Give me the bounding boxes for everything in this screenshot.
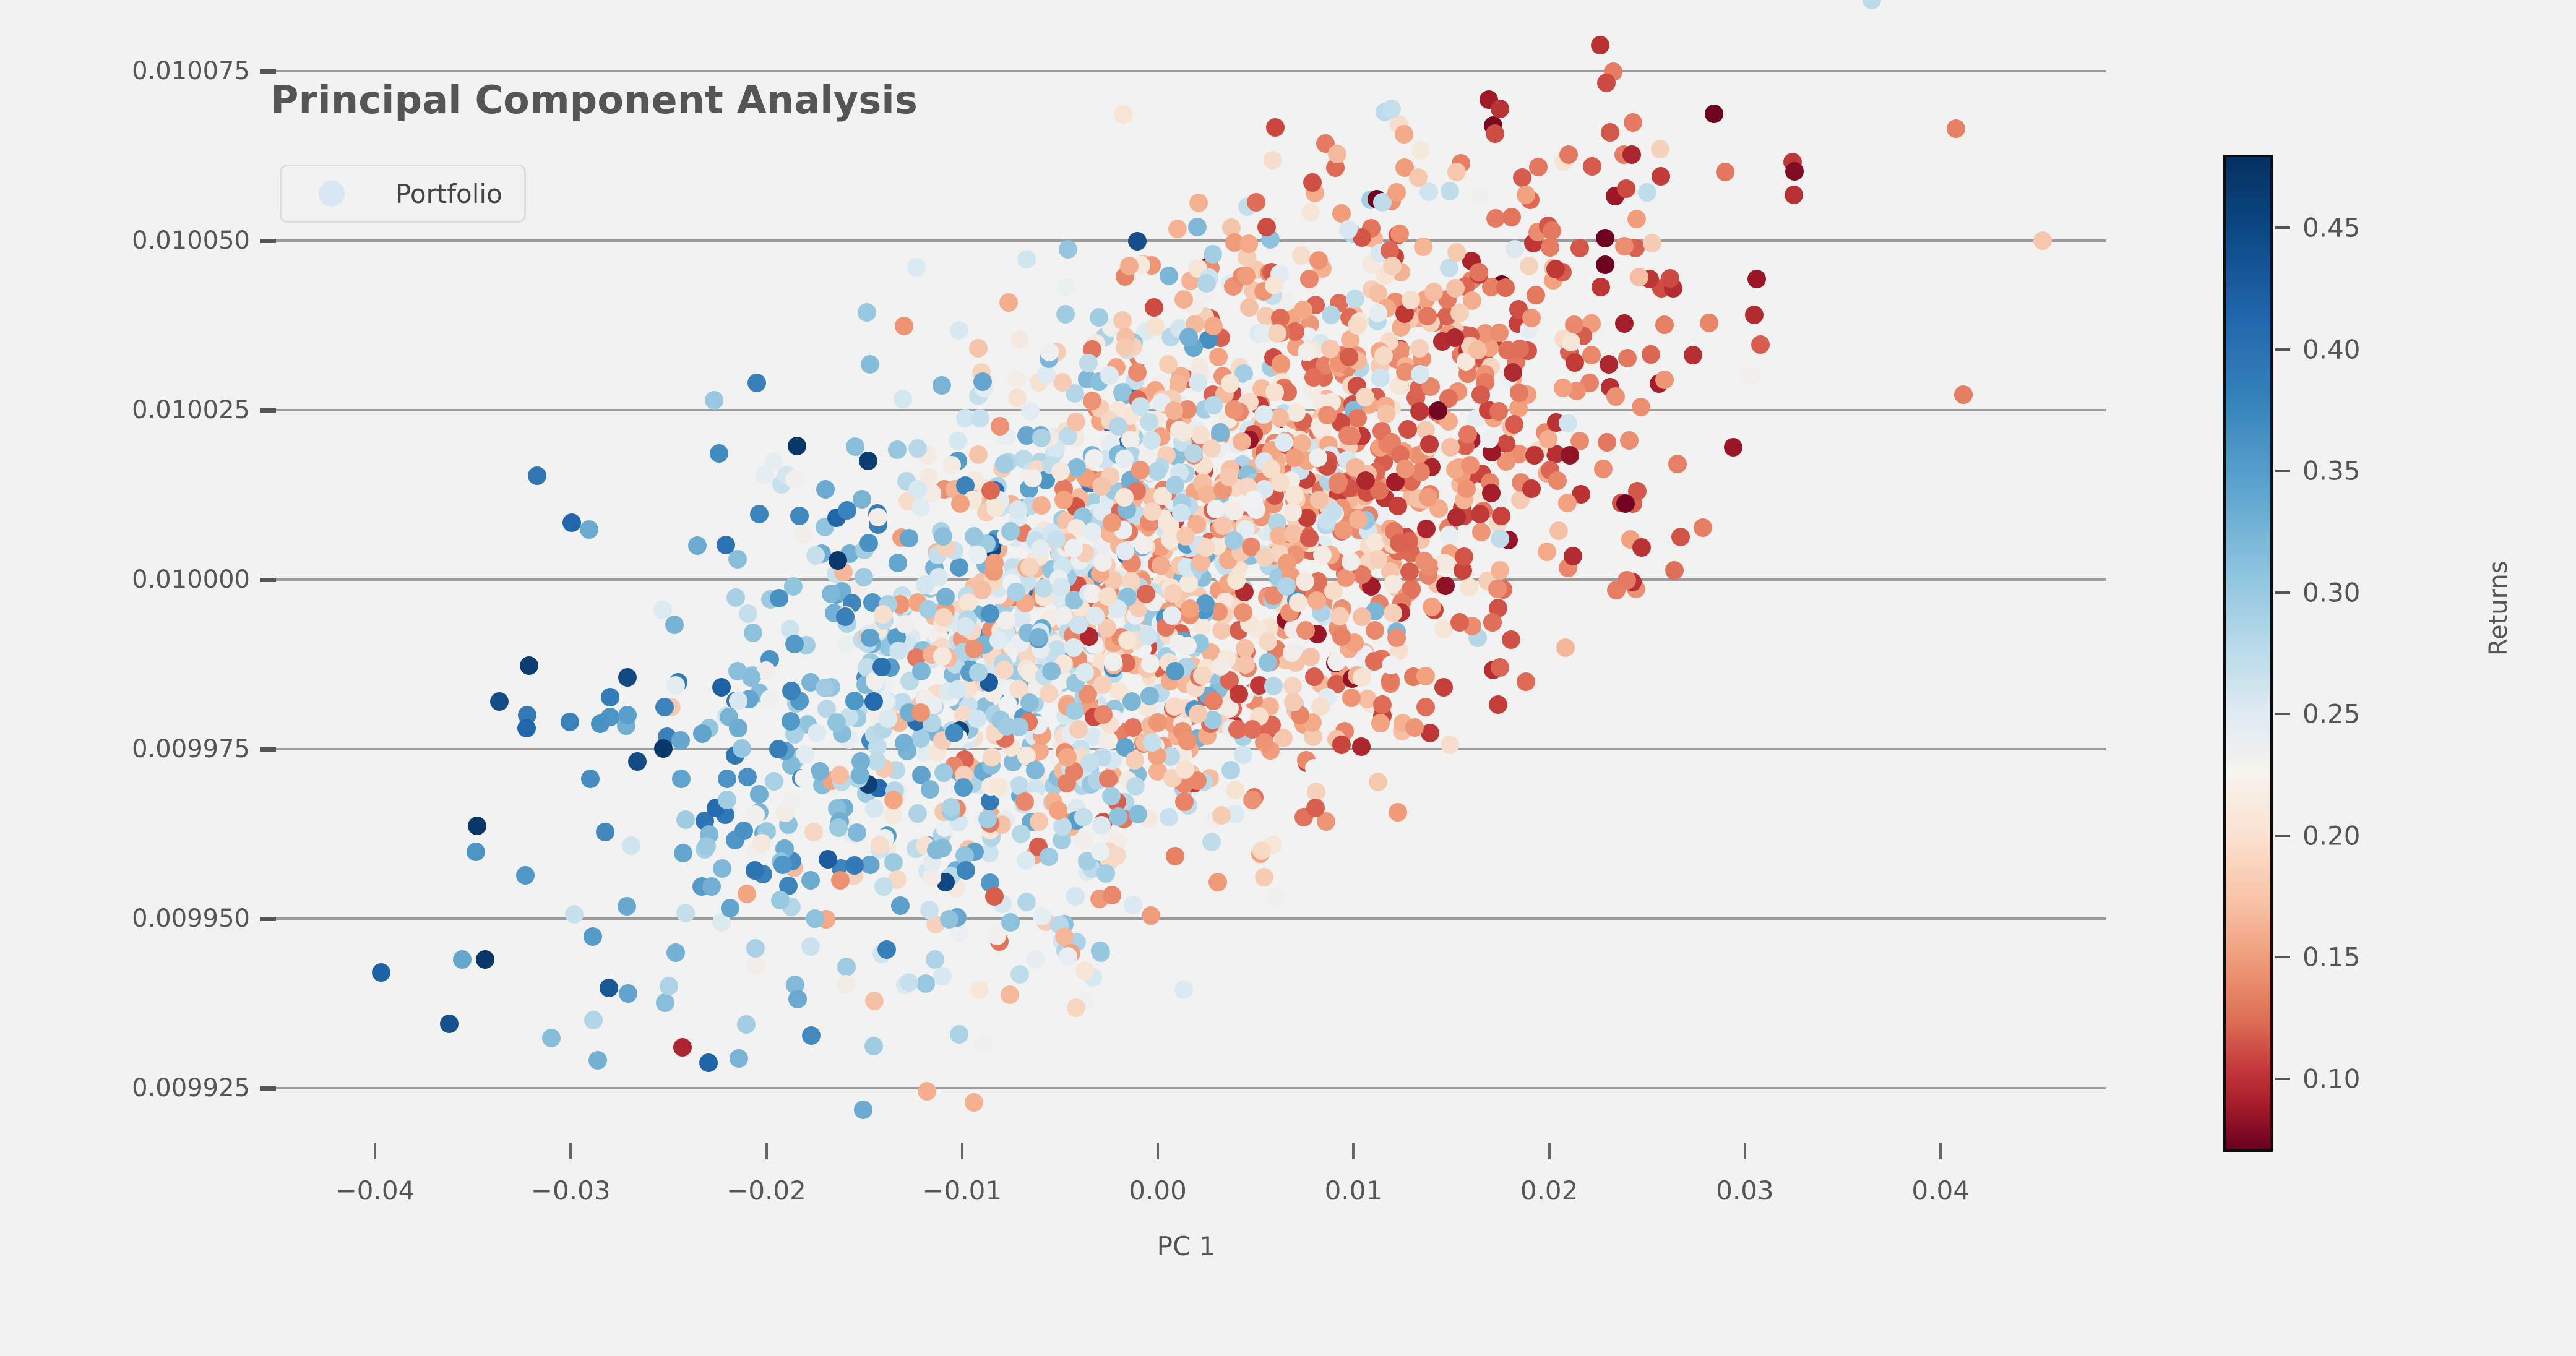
scatter-point (713, 859, 731, 878)
scatter-point (656, 993, 674, 1012)
scatter-point (1096, 864, 1115, 883)
scatter-point (830, 766, 849, 784)
scatter-point (1037, 366, 1056, 384)
scatter-point (666, 676, 685, 695)
scatter-point (1622, 145, 1641, 164)
scatter-point (1447, 163, 1466, 181)
scatter-point (999, 293, 1018, 312)
scatter-point (1074, 808, 1093, 826)
y-axis-label: 0.010025 (132, 396, 250, 424)
scatter-point (877, 940, 896, 959)
scatter-point (1075, 663, 1094, 682)
x-axis-tick (1939, 1143, 1942, 1159)
scatter-point (1304, 368, 1323, 387)
scatter-point (1340, 348, 1358, 366)
scatter-point (1630, 268, 1648, 286)
scatter-point (1366, 621, 1384, 640)
x-axis-label: −0.02 (726, 1175, 806, 1206)
scatter-point (1285, 486, 1304, 505)
scatter-point (1538, 543, 1556, 561)
scatter-point (752, 834, 771, 852)
scatter-point (1277, 577, 1296, 596)
scatter-point (848, 823, 866, 842)
scatter-point (1396, 460, 1415, 478)
scatter-point (1213, 517, 1232, 535)
scatter-point (1188, 218, 1207, 236)
scatter-point (907, 258, 926, 277)
scatter-point (894, 390, 912, 408)
scatter-point (988, 927, 1006, 945)
scatter-point (654, 739, 673, 758)
scatter-point (1496, 278, 1515, 297)
scatter-point (1373, 695, 1392, 714)
scatter-point (1139, 627, 1157, 645)
scatter-point (1330, 607, 1349, 625)
scatter-point (1007, 369, 1026, 388)
colorbar-tick (2275, 591, 2290, 594)
scatter-point (1040, 343, 1059, 361)
scatter-point (1179, 328, 1198, 346)
scatter-point (1029, 628, 1048, 646)
scatter-point (1166, 662, 1184, 680)
scatter-point (970, 981, 989, 999)
scatter-point (864, 1037, 883, 1055)
scatter-point (1109, 417, 1127, 436)
scatter-point (733, 739, 751, 758)
scatter-point (933, 967, 952, 985)
scatter-point (808, 724, 826, 742)
scatter-point (968, 546, 987, 564)
scatter-point (1021, 402, 1040, 421)
scatter-point (995, 455, 1014, 473)
scatter-point (1632, 398, 1650, 416)
scatter-point (601, 688, 619, 706)
scatter-point (1558, 494, 1577, 512)
scatter-point (1300, 270, 1319, 288)
scatter-point (1142, 906, 1160, 925)
y-axis-label: 0.009925 (132, 1074, 250, 1102)
scatter-point (1298, 343, 1316, 361)
y-axis-label: 0.009950 (132, 904, 250, 933)
scatter-point (1468, 341, 1487, 359)
scatter-point (1116, 338, 1134, 357)
scatter-point (1349, 510, 1368, 529)
scatter-point (1212, 806, 1231, 825)
scatter-point (718, 770, 736, 788)
scatter-point (1548, 471, 1567, 490)
scatter-point (676, 810, 695, 829)
scatter-point (1176, 760, 1194, 779)
scatter-point (747, 956, 765, 974)
scatter-point (1085, 449, 1103, 468)
scatter-point (1017, 851, 1035, 870)
scatter-point (1067, 458, 1086, 477)
scatter-point (1120, 257, 1139, 275)
scatter-point (730, 1049, 748, 1068)
scatter-point (1671, 528, 1690, 546)
scatter-point (1197, 274, 1216, 293)
scatter-point (1054, 491, 1073, 509)
scatter-point (1591, 36, 1609, 54)
scatter-point (1104, 653, 1122, 671)
scatter-point (1189, 194, 1208, 212)
scatter-point (1230, 685, 1248, 703)
scatter-point (1387, 183, 1406, 202)
scatter-point (1237, 267, 1256, 285)
scatter-point (1010, 965, 1029, 984)
scatter-point (1447, 243, 1466, 262)
colorbar-label: 0.20 (2302, 820, 2361, 851)
scatter-point (1527, 286, 1545, 304)
scatter-point (1023, 469, 1042, 487)
scatter-point (1204, 317, 1223, 335)
scatter-point (801, 871, 820, 890)
scatter-point (1441, 438, 1460, 457)
scatter-point (782, 682, 801, 700)
scatter-point (916, 974, 935, 993)
scatter-point (1140, 687, 1159, 705)
scatter-point (912, 662, 931, 680)
scatter-point (2033, 231, 2052, 250)
scatter-point (811, 762, 829, 781)
scatter-point (1017, 893, 1036, 911)
scatter-point (1142, 431, 1161, 450)
scatter-point (1374, 346, 1393, 365)
scatter-point (1441, 182, 1459, 200)
scatter-point (859, 452, 877, 470)
scatter-point (920, 901, 939, 919)
scatter-point (1694, 518, 1712, 537)
scatter-point (1638, 183, 1656, 202)
y-axis-label: 0.010050 (132, 226, 250, 255)
scatter-point (888, 440, 907, 459)
scatter-point (1126, 751, 1144, 770)
scatter-point (618, 668, 637, 687)
scatter-point (1332, 736, 1351, 754)
scatter-point (1651, 140, 1669, 158)
scatter-point (1620, 431, 1639, 450)
scatter-point (1234, 603, 1252, 622)
scatter-point (854, 1101, 872, 1119)
scatter-point (969, 445, 988, 464)
scatter-point (1020, 693, 1039, 712)
scatter-point (997, 611, 1015, 630)
scatter-point (1221, 374, 1239, 393)
scatter-point (1947, 119, 1965, 138)
scatter-point (1212, 657, 1230, 676)
scatter-point (1012, 825, 1030, 843)
scatter-point (1517, 186, 1535, 204)
scatter-point (1115, 488, 1134, 507)
scatter-point (1490, 324, 1509, 342)
scatter-point (949, 432, 967, 450)
scatter-point (1513, 168, 1531, 187)
scatter-point (1668, 455, 1687, 473)
scatter-point (1103, 513, 1121, 532)
scatter-point (1234, 745, 1252, 764)
scatter-point (750, 785, 769, 804)
scatter-point (1411, 141, 1430, 160)
scatter-point (618, 897, 636, 916)
colorbar-tick (2275, 1078, 2290, 1080)
colorbar-tick (2275, 713, 2290, 715)
scatter-point (1492, 507, 1510, 525)
scatter-point (1471, 385, 1490, 404)
scatter-point (1033, 907, 1051, 925)
scatter-points (267, 0, 2107, 1132)
scatter-point (1208, 873, 1227, 891)
scatter-point (1233, 432, 1251, 451)
scatter-point (746, 805, 765, 824)
scatter-point (1517, 672, 1535, 691)
scatter-point (688, 536, 707, 555)
scatter-point (1030, 812, 1048, 831)
scatter-point (1264, 677, 1283, 695)
scatter-point (837, 975, 855, 993)
x-axis-label: 0.01 (1325, 1175, 1383, 1206)
scatter-point (1447, 508, 1466, 526)
scatter-point (1389, 803, 1407, 822)
y-axis-label: 0.010000 (132, 565, 250, 594)
scatter-point (1193, 666, 1212, 685)
scatter-point (1440, 526, 1458, 544)
scatter-point (562, 513, 581, 532)
scatter-point (1266, 888, 1285, 906)
scatter-point (1556, 638, 1575, 657)
scatter-point (1505, 415, 1523, 434)
scatter-point (1429, 401, 1447, 420)
scatter-point (1414, 238, 1432, 256)
scatter-point (969, 663, 988, 682)
scatter-point (699, 1053, 718, 1072)
scatter-point (1083, 392, 1101, 410)
scatter-point (1371, 714, 1390, 732)
scatter-point (1525, 446, 1544, 465)
scatter-point (705, 391, 723, 410)
colorbar[interactable]: 0.450.400.350.300.250.200.150.10 (2223, 155, 2273, 1152)
x-axis-label: 0.02 (1520, 1175, 1579, 1206)
scatter-point (889, 554, 907, 572)
scatter-point (1254, 405, 1273, 424)
scatter-point (1491, 530, 1509, 548)
scatter-point (516, 866, 535, 885)
scatter-point (950, 1025, 968, 1044)
scatter-point (900, 529, 918, 547)
y-axis-label: 0.009975 (132, 735, 250, 763)
scatter-point (971, 409, 989, 427)
scatter-point (1064, 638, 1083, 657)
scatter-point (1311, 697, 1330, 716)
scatter-point (1040, 684, 1058, 703)
scatter-point (1461, 456, 1480, 474)
scatter-point (1390, 225, 1409, 243)
scatter-point (1189, 373, 1207, 392)
scatter-point (1592, 278, 1610, 296)
scatter-point (710, 444, 728, 463)
scatter-point (1321, 340, 1340, 358)
scatter-point (1307, 591, 1326, 610)
scatter-point (1471, 187, 1489, 206)
scatter-point (1244, 491, 1263, 509)
scatter-point (1066, 702, 1084, 720)
scatter-point (1289, 593, 1307, 612)
scatter-point (1716, 163, 1734, 181)
scatter-point (1434, 678, 1453, 697)
scatter-point (1615, 237, 1634, 255)
scatter-point (1174, 981, 1193, 999)
colorbar-label: 0.25 (2302, 699, 2361, 729)
scatter-point (1510, 384, 1528, 402)
scatter-point (1332, 627, 1351, 646)
scatter-point (794, 525, 812, 544)
scatter-point (1103, 886, 1121, 904)
scatter-point (717, 536, 735, 554)
scatter-point (816, 480, 835, 499)
scatter-point (1268, 324, 1286, 343)
scatter-point (1166, 847, 1184, 865)
scatter-point (1502, 208, 1521, 226)
scatter-point (1684, 346, 1702, 364)
scatter-point (1093, 676, 1112, 694)
scatter-point (1099, 770, 1118, 788)
scatter-point (918, 1082, 936, 1101)
scatter-point (908, 804, 927, 823)
scatter-point (973, 1034, 992, 1052)
scatter-point (1661, 269, 1679, 288)
scatter-point (1582, 346, 1601, 364)
scatter-point (1745, 306, 1764, 324)
y-axis-tick (260, 578, 276, 582)
scatter-point (1309, 251, 1328, 270)
scatter-point (1471, 505, 1489, 523)
scatter-point (942, 798, 960, 817)
scatter-point (1278, 554, 1296, 572)
scatter-point (1240, 298, 1259, 317)
scatter-point (933, 376, 951, 395)
scatter-point (1785, 162, 1804, 181)
y-axis-tick (260, 1086, 276, 1091)
scatter-point (726, 588, 745, 607)
scatter-point (785, 470, 804, 489)
scatter-point (1296, 621, 1315, 640)
scatter-point (802, 1026, 821, 1045)
scatter-point (895, 317, 913, 335)
scatter-point (908, 439, 927, 458)
scatter-point (965, 527, 983, 546)
scatter-point (1594, 460, 1613, 478)
scatter-point (1642, 345, 1660, 364)
scatter-point (1265, 383, 1284, 401)
scatter-point (1017, 250, 1036, 268)
colorbar-label: 0.35 (2302, 456, 2361, 486)
scatter-point (542, 1029, 561, 1047)
colorbar-tick (2275, 835, 2290, 837)
scatter-point (1409, 168, 1428, 187)
scatter-point (1026, 950, 1045, 969)
scatter-point (1051, 462, 1070, 481)
scatter-point (1009, 500, 1027, 519)
scatter-point (1059, 240, 1077, 259)
scatter-point (1243, 791, 1262, 809)
scatter-point (1256, 548, 1274, 567)
scatter-point (1137, 585, 1155, 603)
scatter-point (1114, 105, 1132, 124)
scatter-point (1327, 653, 1346, 671)
scatter-point (580, 520, 598, 539)
scatter-point (1303, 173, 1322, 192)
y-axis-tick (260, 408, 276, 413)
scatter-point (1026, 761, 1045, 779)
scatter-point (1069, 720, 1088, 739)
scatter-point (1184, 444, 1203, 463)
scatter-point (831, 871, 850, 890)
colorbar-tick (2275, 956, 2290, 958)
scatter-point (785, 635, 804, 653)
scatter-point (983, 748, 1001, 766)
scatter-point (985, 887, 1004, 906)
scatter-point (1057, 278, 1075, 296)
scatter-point (1549, 521, 1568, 540)
scatter-point (1220, 468, 1238, 486)
scatter-point (1598, 433, 1616, 452)
scatter-point (884, 853, 903, 872)
scatter-point (1419, 488, 1437, 507)
scatter-point (1480, 430, 1499, 448)
scatter-point (859, 534, 878, 552)
scatter-point (1143, 733, 1161, 752)
scatter-point (1266, 118, 1285, 137)
scatter-point (676, 904, 695, 922)
x-axis-label: −0.01 (922, 1175, 1002, 1206)
scatter-point (1318, 406, 1337, 424)
scatter-point (1491, 561, 1509, 580)
scatter-point (1141, 654, 1160, 673)
scatter-point (1113, 311, 1132, 330)
scatter-point (1470, 263, 1488, 281)
y-axis-tick (260, 239, 276, 243)
scatter-point (951, 494, 970, 513)
colorbar-gradient (2223, 155, 2273, 1152)
scatter-point (1007, 583, 1025, 601)
scatter-point (1615, 314, 1634, 333)
scatter-point (1225, 502, 1244, 520)
scatter-point (440, 1015, 459, 1033)
scatter-point (697, 837, 716, 856)
scatter-point (1146, 317, 1165, 336)
scatter-point (1559, 414, 1577, 432)
scatter-point (1510, 340, 1529, 358)
scatter-point (1099, 731, 1118, 750)
scatter-point (1377, 405, 1395, 423)
scatter-point (1226, 781, 1244, 799)
scatter-point (1225, 400, 1243, 419)
scatter-point (1067, 413, 1085, 431)
scatter-point (1255, 868, 1273, 886)
scatter-point (1145, 298, 1163, 317)
scatter-point (1118, 631, 1137, 650)
x-axis-label: 0.04 (1911, 1175, 1970, 1206)
scatter-point (940, 910, 958, 929)
scatter-point (921, 780, 939, 799)
scatter-point (660, 977, 678, 995)
colorbar-label: 0.40 (2302, 334, 2361, 364)
scatter-point (1166, 476, 1184, 494)
scatter-point (1339, 220, 1358, 239)
scatter-point (1301, 203, 1320, 221)
scatter-point (865, 799, 884, 818)
scatter-point (1148, 462, 1166, 481)
scatter-point (1042, 662, 1061, 680)
